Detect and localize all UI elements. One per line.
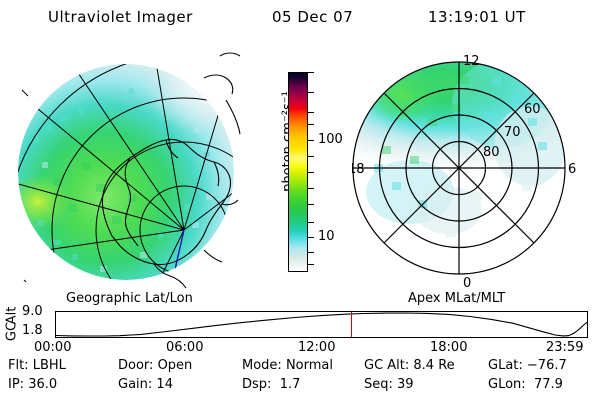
colorbar-tick: [308, 204, 314, 205]
colorbar-tick: [308, 252, 314, 253]
colorbar-tick: [308, 172, 314, 173]
strip-plot-frame[interactable]: [55, 311, 588, 338]
strip-x-tick-0: 00:00: [34, 340, 71, 355]
observation-time: 13:19:01 UT: [428, 8, 526, 26]
mlat-label-70: 70: [504, 125, 521, 140]
colorbar-major-tick-100: [308, 140, 314, 141]
colorbar-gradient[interactable]: [288, 72, 308, 272]
status-gain: Gain: 14: [118, 377, 173, 392]
geographic-panel-caption: Geographic Lat/Lon: [66, 291, 193, 306]
status-flt: Flt: LBHL: [8, 358, 66, 373]
mlt-label-12: 12: [463, 54, 480, 69]
status-glon: GLon: 77.9: [488, 377, 563, 392]
header-bar: Ultraviolet Imager 05 Dec 07 13:19:01 UT: [0, 6, 600, 32]
strip-y-tick-min: 1.8: [22, 323, 43, 338]
time-cursor[interactable]: [351, 312, 352, 337]
colorbar-tick: [308, 124, 314, 125]
orbit-altitude-strip-plot[interactable]: Alt GC 9.0 1.8 00:00 06:00 12:00 18:00 2…: [0, 306, 600, 356]
strip-x-tick-3: 18:00: [430, 340, 467, 355]
colorbar-tick: [308, 92, 314, 93]
geographic-map-svg: [8, 44, 260, 292]
strip-y-axis-label-bottom: GC: [5, 312, 20, 352]
instrument-title: Ultraviolet Imager: [48, 8, 193, 26]
mlt-dial-svg: 12 6 0 18 60 70 80: [352, 42, 596, 294]
status-mode: Mode: Normal: [242, 358, 333, 373]
status-footer: Flt: LBHL Door: Open Mode: Normal GC Alt…: [0, 358, 600, 398]
mlt-label-18: 18: [352, 162, 365, 177]
mlt-label-0: 0: [463, 276, 471, 291]
mlt-label-6: 6: [568, 162, 576, 177]
altitude-curve-svg: [56, 312, 587, 337]
colorbar-tick: [308, 264, 314, 265]
strip-x-tick-2: 12:00: [298, 340, 335, 355]
aurora-emission-layer: [10, 56, 248, 280]
colorbar-tick: [308, 112, 314, 113]
geographic-map-panel[interactable]: [8, 44, 260, 292]
status-glat: GLat: −76.7: [488, 358, 567, 373]
colorbar-panel[interactable]: photon cm⁻²s⁻¹ 100 10: [262, 56, 358, 292]
strip-y-tick-max: 9.0: [22, 304, 43, 319]
colorbar-tick: [308, 156, 314, 157]
colorbar-tick: [308, 72, 314, 73]
mlat-label-80: 80: [483, 145, 500, 160]
status-door: Door: Open: [118, 358, 192, 373]
mlt-grid: [353, 62, 565, 274]
status-dsp: Dsp: 1.7: [242, 377, 300, 392]
mlat-label-60: 60: [524, 102, 541, 117]
strip-x-tick-4: 23:59: [546, 340, 583, 355]
colorbar-label-10: 10: [318, 229, 335, 244]
strip-x-tick-1: 06:00: [166, 340, 203, 355]
colorbar-tick: [308, 188, 314, 189]
mlt-panel-caption: Apex MLat/MLT: [408, 291, 505, 306]
status-gc-alt: GC Alt: 8.4 Re: [364, 358, 455, 373]
colorbar-label-100: 100: [318, 132, 343, 147]
mlt-dial-panel[interactable]: 12 6 0 18 60 70 80: [352, 42, 596, 294]
observation-date: 05 Dec 07: [272, 8, 353, 26]
colorbar-major-tick-10: [308, 237, 314, 238]
status-seq: Seq: 39: [364, 377, 414, 392]
status-ip: IP: 36.0: [8, 377, 57, 392]
colorbar-tick: [308, 222, 314, 223]
